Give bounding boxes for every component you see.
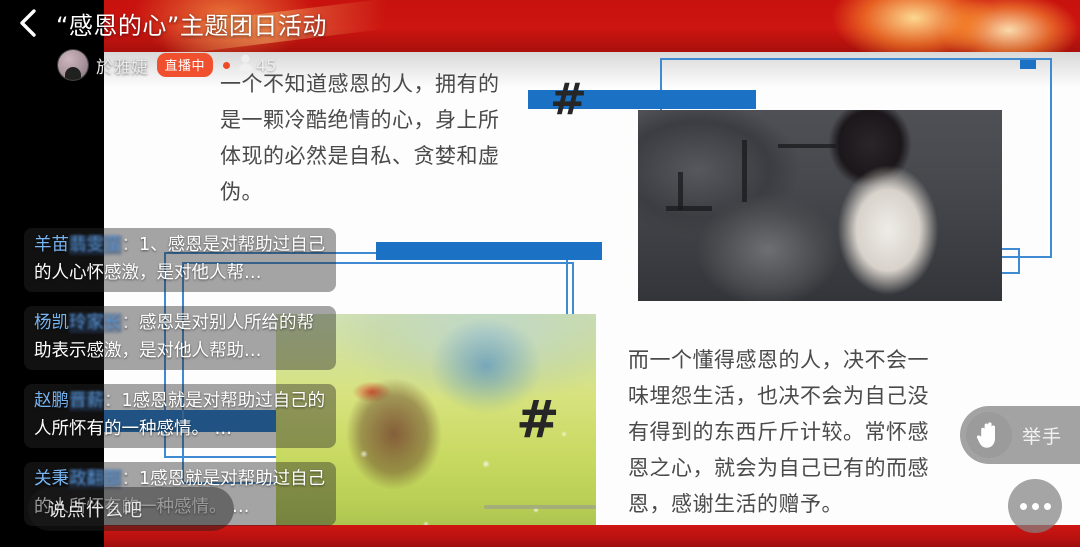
comment-author: 杨凯玲家长 — [34, 313, 122, 333]
comment-author: 赵鹏晋薪 — [34, 391, 104, 411]
ellipsis-icon — [1020, 503, 1027, 510]
avatar[interactable] — [58, 50, 88, 80]
hash-symbol-bottom: # — [516, 394, 560, 446]
back-button[interactable] — [0, 0, 56, 46]
streamer-name: 於雅婕 — [96, 53, 149, 78]
comment-author: 关秉政翻部 — [34, 469, 122, 489]
viewer-count-group: 45 — [238, 54, 276, 76]
blue-tick-top — [1020, 60, 1036, 69]
hand-icon — [966, 412, 1012, 458]
ellipsis-icon — [1044, 503, 1051, 510]
more-options-button[interactable] — [1008, 479, 1062, 533]
page-title: “感恩的心”主题团日活动 — [56, 6, 327, 41]
app-header: “感恩的心”主题团日活动 — [0, 0, 1080, 46]
hash-symbol-top: # — [550, 78, 587, 122]
list-item[interactable]: 羊苗翡雯蛮：1、感恩是对帮助过自己的人心怀感激，是对他人帮… — [24, 228, 336, 292]
raise-hand-label: 举手 — [1022, 422, 1062, 449]
comment-author: 羊苗翡雯蛮 — [34, 235, 122, 255]
slide-paragraph-top: 一个不知道感恩的人，拥有的是一颗冷酷绝情的心，身上所体现的必然是自私、贪婪和虚伪… — [220, 66, 520, 210]
comment-list[interactable]: 羊苗翡雯蛮：1、感恩是对帮助过自己的人心怀感激，是对他人帮… 杨凯玲家长：感恩是… — [24, 228, 336, 526]
person-icon — [238, 54, 253, 76]
blue-bar-bottom-top — [376, 242, 602, 260]
live-class-screen: # 一个不知道感恩的人，拥有的是一颗冷酷绝情的心，身上所体现的必然是自私、贪婪和… — [0, 0, 1080, 547]
comment-separator: ： — [122, 313, 140, 333]
comment-separator: ： — [122, 235, 140, 255]
comment-separator: ： — [122, 469, 140, 489]
status-badge: 直播中 — [157, 53, 214, 77]
streamer-info-row: 於雅婕 直播中 45 — [58, 50, 276, 80]
photo-person-hunched — [638, 110, 1002, 301]
ellipsis-icon — [1032, 503, 1039, 510]
viewer-count: 45 — [256, 56, 276, 75]
chevron-left-icon — [17, 8, 39, 38]
slide-paragraph-bottom: 而一个懂得感恩的人，决不会一味埋怨生活，也决不会为自己没有得到的东西斤斤计较。常… — [628, 342, 946, 522]
comment-input-placeholder: 说点什么吧 — [48, 496, 143, 522]
live-dot-icon — [223, 62, 230, 69]
list-item[interactable]: 赵鹏晋薪：1感恩就是对帮助过自己的人所怀有的一种感情。 … — [24, 384, 336, 448]
slide-bottom-strip — [104, 525, 1080, 547]
home-indicator — [484, 505, 596, 509]
comment-separator: ： — [104, 391, 122, 411]
raise-hand-button[interactable]: 举手 — [960, 406, 1080, 464]
list-item[interactable]: 杨凯玲家长：感恩是对别人所给的帮助表示感激，是对他人帮助… — [24, 306, 336, 370]
comment-input[interactable]: 说点什么吧 — [28, 487, 234, 531]
